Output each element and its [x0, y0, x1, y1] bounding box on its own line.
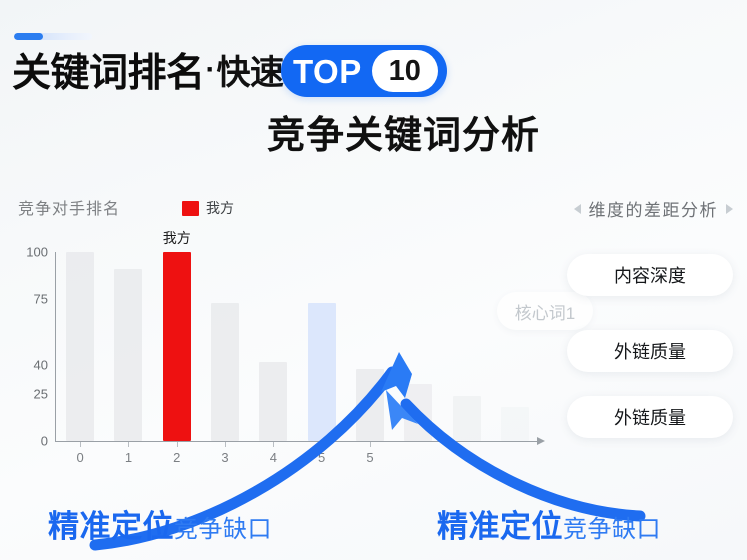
x-axis-tick [128, 442, 129, 447]
page-title: 竞争关键词分析 [0, 112, 747, 161]
callout-right: 精准定位 竞争缺口 [437, 501, 661, 546]
chart-caption: 竞争对手排名 [18, 195, 120, 219]
bar-competitor[interactable] [259, 362, 287, 441]
progress-fill [14, 33, 43, 40]
x-axis-tick [370, 442, 371, 447]
bar-annotation-label: 我方 [163, 228, 191, 248]
top-rank-number: 10 [372, 50, 438, 92]
y-tick-label: 75 [34, 292, 48, 307]
kicker-separator-dot: · [205, 53, 217, 87]
right-panel-title: 维度的差距分析 [589, 196, 719, 221]
bar-competitor[interactable] [211, 303, 239, 441]
y-axis-labels: 0254075100 [14, 252, 48, 442]
x-tick-label: 1 [125, 450, 132, 465]
progress-track [14, 33, 92, 40]
bar-highlight-ours[interactable] [163, 252, 191, 441]
x-tick-label: 5 [366, 450, 373, 465]
legend-swatch-icon [182, 201, 199, 216]
ghost-keyword-card[interactable]: 核心词1 [497, 292, 593, 330]
kicker-sub-text: 快速 [217, 56, 284, 90]
y-tick-label: 40 [34, 358, 48, 373]
x-tick-label: 0 [77, 450, 84, 465]
chart-legend: 我方 [182, 198, 234, 218]
top-rank-badge: TOP 10 [281, 45, 447, 97]
bar-competitor[interactable] [404, 384, 432, 441]
bar-chart: 0254075100 0123455我方 [14, 252, 539, 457]
legend-label: 我方 [206, 198, 234, 218]
triangle-left-icon[interactable] [574, 204, 581, 214]
right-panel-header: 维度的差距分析 [574, 196, 734, 221]
y-tick-label: 25 [34, 386, 48, 401]
bar-competitor[interactable] [356, 369, 384, 441]
kicker-main-text: 关键词排名 [12, 54, 205, 93]
bar-competitor[interactable] [114, 269, 142, 441]
callout-left: 精准定位 竞争缺口 [48, 501, 272, 546]
dimension-card-backlink-quality-1[interactable]: 外链质量 [567, 330, 733, 372]
bar-competitor[interactable] [453, 396, 481, 441]
x-axis-tick [177, 442, 178, 447]
x-tick-label: 2 [173, 450, 180, 465]
dimension-card-content-depth[interactable]: 内容深度 [567, 254, 733, 296]
x-axis-tick [273, 442, 274, 447]
bar-competitor[interactable] [501, 407, 529, 441]
x-tick-label: 5 [318, 450, 325, 465]
bar-competitor[interactable] [66, 252, 94, 441]
x-axis-tick [225, 442, 226, 447]
x-tick-label: 3 [221, 450, 228, 465]
bar-accent-target[interactable] [308, 303, 336, 441]
callout-left-strong: 精准定位 [48, 501, 174, 546]
header-kicker: 关键词排名 · 快速 [12, 45, 284, 101]
callout-left-light: 竞争缺口 [174, 509, 272, 544]
callout-right-light: 竞争缺口 [563, 509, 661, 544]
chart-plot-area: 0123455我方 [56, 252, 539, 441]
triangle-right-icon[interactable] [726, 204, 733, 214]
callout-right-strong: 精准定位 [437, 501, 563, 546]
x-tick-label: 4 [270, 450, 277, 465]
y-tick-label: 100 [26, 245, 48, 260]
y-tick-label: 0 [41, 434, 48, 449]
x-axis-tick [322, 442, 323, 447]
dimension-card-backlink-quality-2[interactable]: 外链质量 [567, 396, 733, 438]
top-rank-label: TOP [293, 55, 372, 88]
x-axis-tick [80, 442, 81, 447]
